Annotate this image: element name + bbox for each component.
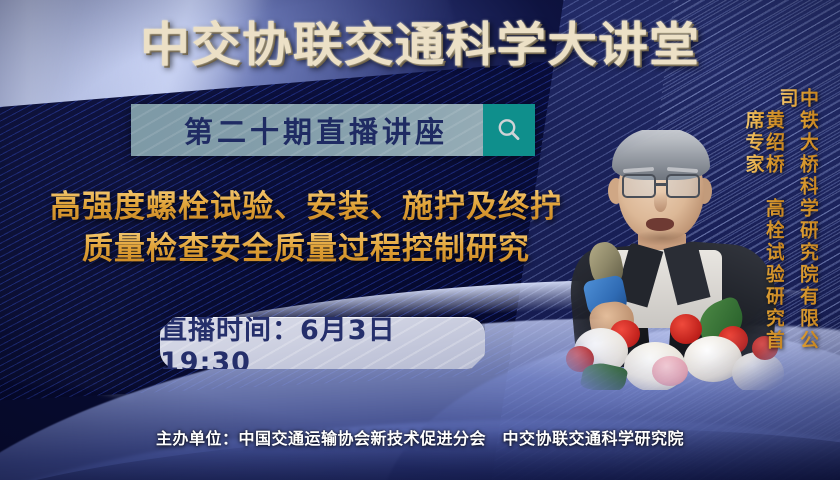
episode-label: 第二十期直播讲座 [131, 109, 483, 151]
speaker-name-title: 黄绍桥 高栓试验研究首席专家 [743, 110, 784, 360]
search-button[interactable] [483, 104, 535, 156]
search-icon [495, 116, 523, 144]
topic-title: 高强度螺栓试验、安装、施拧及终拧 质量检查安全质量过程控制研究 [6, 186, 606, 270]
topic-line-1: 高强度螺栓试验、安装、施拧及终拧 [6, 186, 606, 228]
live-time-badge: 直播时间：6月3日19:30 [160, 317, 485, 369]
photo-nose [654, 192, 667, 212]
photo-glasses-bridge [655, 183, 668, 186]
photo-chin-shadow [632, 230, 692, 246]
page-title: 中交协联交通科学大讲堂 [0, 22, 840, 69]
photo-glasses-right [666, 174, 700, 198]
poster-canvas: 中交协联交通科学大讲堂 第二十期直播讲座 高强度螺栓试验、安装、施拧及终拧 质量… [0, 0, 840, 480]
flower-pink [652, 356, 688, 386]
episode-bar: 第二十期直播讲座 [131, 104, 535, 156]
live-time-text: 直播时间：6月3日19:30 [160, 308, 485, 378]
organizer-footer: 主办单位：中国交通运输协会新技术促进分会 中交协联交通科学研究院 [0, 425, 840, 449]
photo-glasses-left [622, 174, 656, 198]
topic-line-2: 质量检查安全质量过程控制研究 [6, 228, 606, 270]
